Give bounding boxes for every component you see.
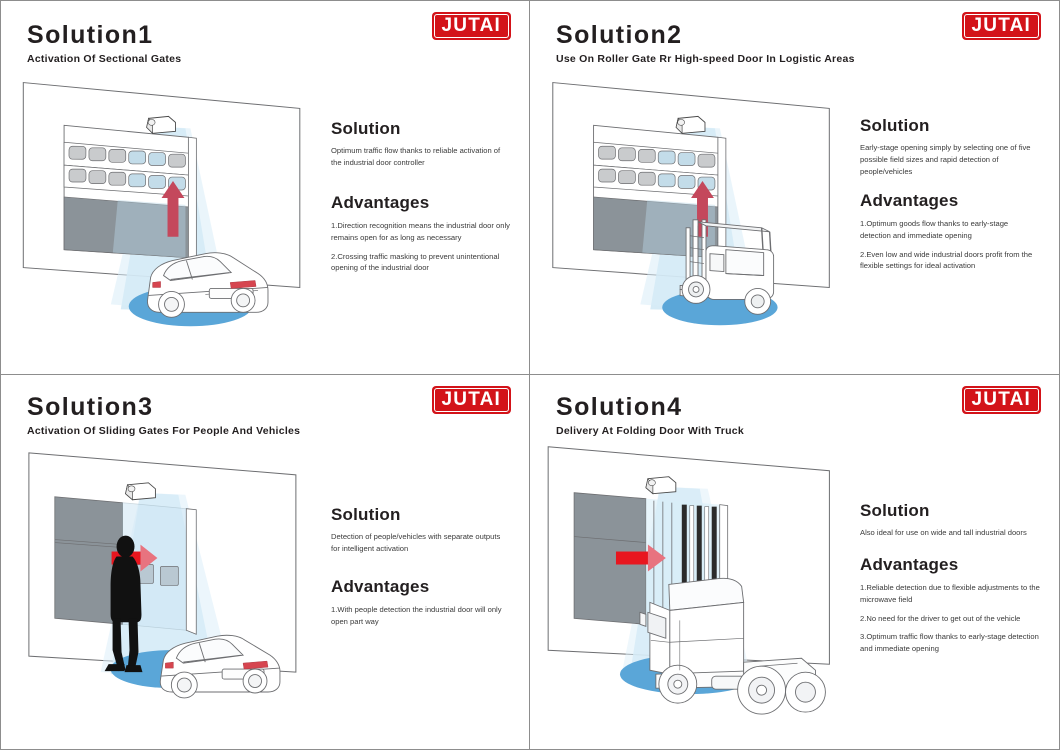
solution-text-block: Solution Early-stage opening simply by s… xyxy=(860,116,1040,177)
solution-description: Also ideal for use on wide and tall indu… xyxy=(860,527,1027,539)
logo-inner-border: JUTAI xyxy=(434,14,509,38)
panel-solution-3: Solution3 Activation Of Sliding Gates Fo… xyxy=(1,375,530,749)
solution-description: Early-stage opening simply by selecting … xyxy=(860,142,1040,177)
solution-text-block: Solution Optimum traffic flow thanks to … xyxy=(331,119,511,169)
logo-text: JUTAI xyxy=(972,390,1031,409)
solution-heading: Solution xyxy=(331,119,511,139)
advantage-item: 1.Direction recognition means the indust… xyxy=(331,220,511,244)
solution-heading: Solution xyxy=(860,116,1040,136)
jutai-logo: JUTAI xyxy=(962,12,1041,40)
advantages-block: Advantages 1.Optimum goods flow thanks t… xyxy=(860,191,1040,272)
panel-title: Solution2 xyxy=(556,23,682,48)
logo-text: JUTAI xyxy=(442,390,501,409)
car-illustration xyxy=(148,253,268,318)
microwave-sensor-icon xyxy=(676,116,705,133)
jutai-logo: JUTAI xyxy=(432,386,511,414)
advantages-block: Advantages 1.Direction recognition means… xyxy=(331,193,511,274)
panel-title: Solution1 xyxy=(27,23,153,48)
forklift-illustration xyxy=(680,220,773,314)
microwave-sensor-icon xyxy=(126,483,156,500)
solution-heading: Solution xyxy=(331,505,511,525)
car-illustration xyxy=(160,635,280,698)
advantage-item: 2.Crossing traffic masking to prevent un… xyxy=(331,251,511,275)
panel-title: Solution4 xyxy=(556,395,682,420)
panel-solution-4: Solution4 Delivery At Folding Door With … xyxy=(530,375,1059,749)
logo-text: JUTAI xyxy=(972,16,1031,35)
panel-solution-2: Solution2 Use On Roller Gate Rr High-spe… xyxy=(530,1,1059,375)
advantages-heading: Advantages xyxy=(331,193,511,213)
solution-description: Optimum traffic flow thanks to reliable … xyxy=(331,145,511,169)
solutions-sheet: Solution1 Activation Of Sectional Gates … xyxy=(0,0,1060,750)
logo-text: JUTAI xyxy=(442,16,501,35)
solution-text-block: Solution Detection of people/vehicles wi… xyxy=(331,505,511,555)
panel-solution-1: Solution1 Activation Of Sectional Gates … xyxy=(1,1,530,375)
solution-description: Detection of people/vehicles with separa… xyxy=(331,531,511,555)
solution-heading: Solution xyxy=(860,501,1027,521)
advantages-heading: Advantages xyxy=(860,191,1040,211)
advantages-heading: Advantages xyxy=(331,577,511,597)
advantage-item: 3.Optimum traffic flow thanks to early-s… xyxy=(860,631,1040,655)
direction-arrow-up xyxy=(691,181,714,237)
solution-text-block: Solution Also ideal for use on wide and … xyxy=(860,501,1027,539)
advantages-block: Advantages 1.With people detection the i… xyxy=(331,577,511,628)
logo-inner-border: JUTAI xyxy=(964,388,1039,412)
logo-inner-border: JUTAI xyxy=(964,14,1039,38)
truck-illustration xyxy=(640,578,826,714)
panel-title: Solution3 xyxy=(27,395,153,420)
jutai-logo: JUTAI xyxy=(432,12,511,40)
pedestrian-silhouette xyxy=(105,536,143,672)
logo-inner-border: JUTAI xyxy=(434,388,509,412)
advantages-heading: Advantages xyxy=(860,555,1040,575)
jutai-logo: JUTAI xyxy=(962,386,1041,414)
microwave-sensor-icon xyxy=(147,116,176,133)
direction-arrow-right xyxy=(616,545,666,572)
panel-subtitle: Use On Roller Gate Rr High-speed Door In… xyxy=(556,54,855,65)
advantage-item: 1.Optimum goods flow thanks to early-sta… xyxy=(860,218,1040,242)
panel-subtitle: Delivery At Folding Door With Truck xyxy=(556,426,744,437)
advantages-block: Advantages 1.Reliable detection due to f… xyxy=(860,555,1040,655)
advantage-item: 1.With people detection the industrial d… xyxy=(331,604,511,628)
advantage-item: 2.Even low and wide industrial doors pro… xyxy=(860,249,1040,273)
microwave-sensor-icon xyxy=(646,477,676,494)
panel-grid: Solution1 Activation Of Sectional Gates … xyxy=(1,1,1059,749)
panel-subtitle: Activation Of Sectional Gates xyxy=(27,54,181,65)
advantage-item: 1.Reliable detection due to flexible adj… xyxy=(860,582,1040,606)
direction-arrow-up xyxy=(162,181,185,237)
panel-subtitle: Activation Of Sliding Gates For People A… xyxy=(27,426,300,437)
advantage-item: 2.No need for the driver to get out of t… xyxy=(860,613,1040,625)
direction-arrow-right xyxy=(112,545,158,572)
